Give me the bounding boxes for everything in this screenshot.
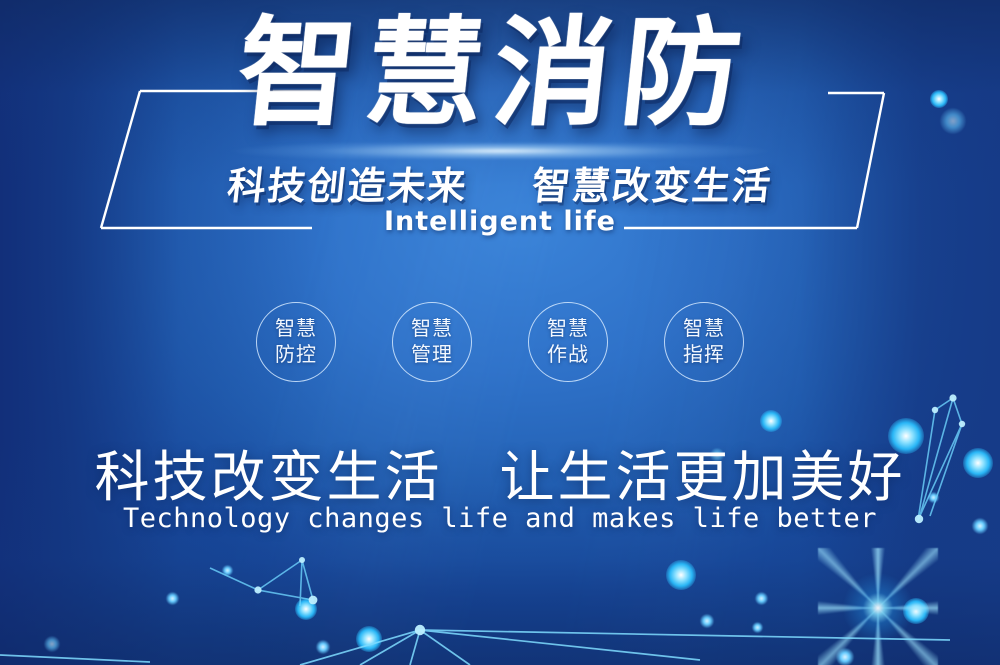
badge-line-1: 智慧 bbox=[275, 316, 317, 342]
poster-canvas: 智慧消防 科技创造未来 智慧改变生活 Intelligent life 智慧 防… bbox=[0, 0, 1000, 665]
badge-line-1: 智慧 bbox=[547, 316, 589, 342]
badge-smart-management[interactable]: 智慧 管理 bbox=[392, 302, 472, 382]
slogan-chinese: 科技改变生活 让生活更加美好 bbox=[0, 432, 1000, 512]
slogan-english: Technology changes life and makes life b… bbox=[0, 503, 1000, 534]
slogan-chinese-part2: 让生活更加美好 bbox=[499, 445, 905, 509]
english-tagline: Intelligent life bbox=[0, 206, 1000, 237]
badge-line-1: 智慧 bbox=[683, 316, 725, 342]
badge-smart-operations[interactable]: 智慧 作战 bbox=[528, 302, 608, 382]
badge-smart-prevention[interactable]: 智慧 防控 bbox=[256, 302, 336, 382]
badge-row: 智慧 防控 智慧 管理 智慧 作战 智慧 指挥 bbox=[0, 302, 1000, 382]
headline-container: 智慧消防 bbox=[0, 14, 1000, 132]
badge-line-2: 防控 bbox=[275, 342, 317, 368]
subtitle: 科技创造未来 智慧改变生活 bbox=[225, 155, 775, 210]
slogan-chinese-part1: 科技改变生活 bbox=[95, 445, 443, 509]
subtitle-container: 科技创造未来 智慧改变生活 bbox=[0, 155, 1000, 210]
badge-line-1: 智慧 bbox=[411, 316, 453, 342]
badge-line-2: 管理 bbox=[411, 342, 453, 368]
badge-smart-command[interactable]: 智慧 指挥 bbox=[664, 302, 744, 382]
badge-line-2: 作战 bbox=[547, 342, 589, 368]
badge-line-2: 指挥 bbox=[683, 342, 725, 368]
subtitle-right: 智慧改变生活 bbox=[530, 164, 775, 208]
page-title: 智慧消防 bbox=[232, 14, 768, 132]
subtitle-left: 科技创造未来 bbox=[225, 164, 470, 208]
